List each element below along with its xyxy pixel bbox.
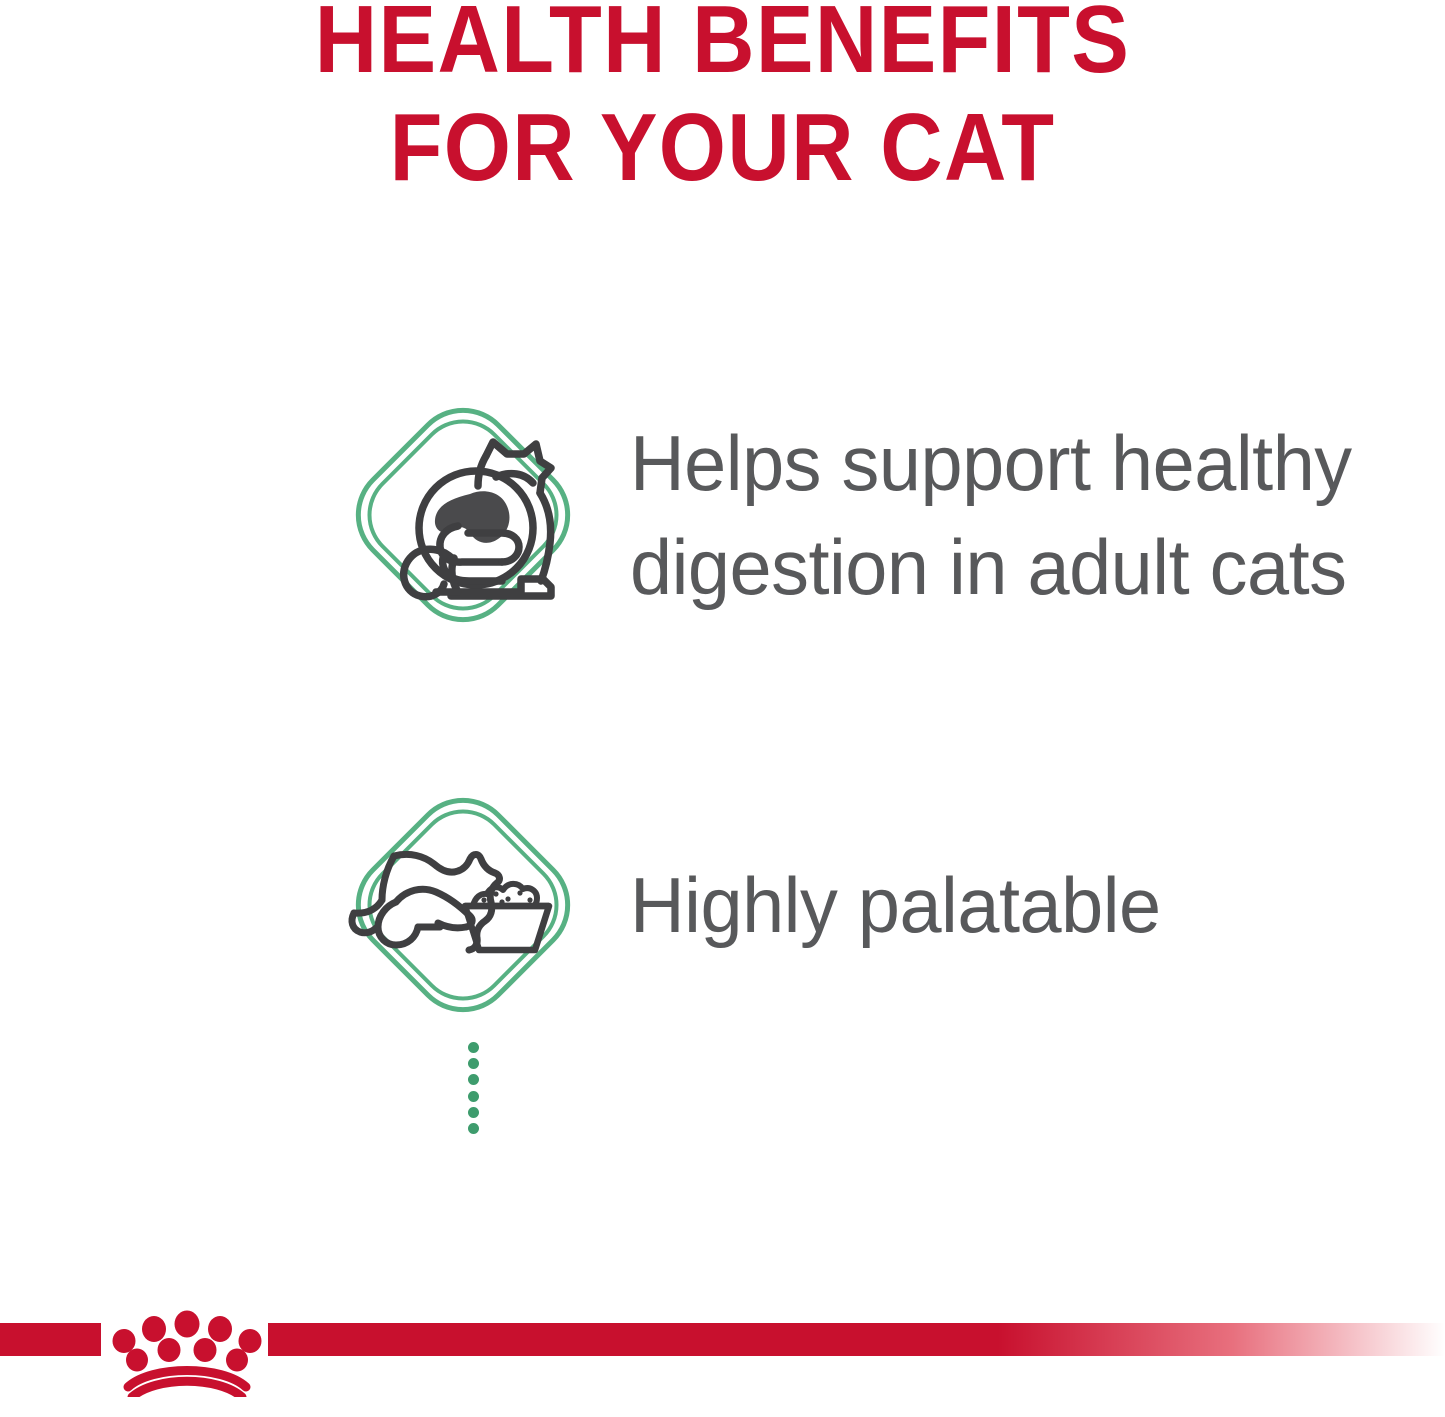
connector-dot [468,1107,479,1118]
connector-dot [468,1123,479,1134]
title-line-1: HEALTH BENEFITS [72,0,1373,94]
benefits-list: Helps support healthy digestion in adult… [0,370,1445,1070]
page-title: HEALTH BENEFITS FOR YOUR CAT [0,0,1445,202]
cat-digestion-icon [318,370,608,660]
benefit-icon-badge-1 [318,370,608,660]
cat-eating-bowl-icon [318,760,608,1050]
benefit-text-2: Highly palatable [630,853,1421,957]
connector-dot [468,1091,479,1102]
footer-bar-right [268,1323,1445,1356]
connector-dot [468,1074,479,1085]
benefit-item-digestion: Helps support healthy digestion in adult… [0,370,1445,660]
benefit-text-1: Helps support healthy digestion in adult… [630,411,1421,619]
benefit-item-palatable: Highly palatable [0,760,1445,1050]
title-line-2: FOR YOUR CAT [72,94,1373,202]
royal-canin-crown-logo [104,1297,270,1397]
footer-bar-left [0,1323,101,1356]
benefit-icon-badge-2 [318,760,608,1050]
dotted-connector [466,1042,480,1134]
kibble-mound [473,884,537,906]
footer [0,1297,1445,1417]
connector-dot [468,1058,479,1069]
